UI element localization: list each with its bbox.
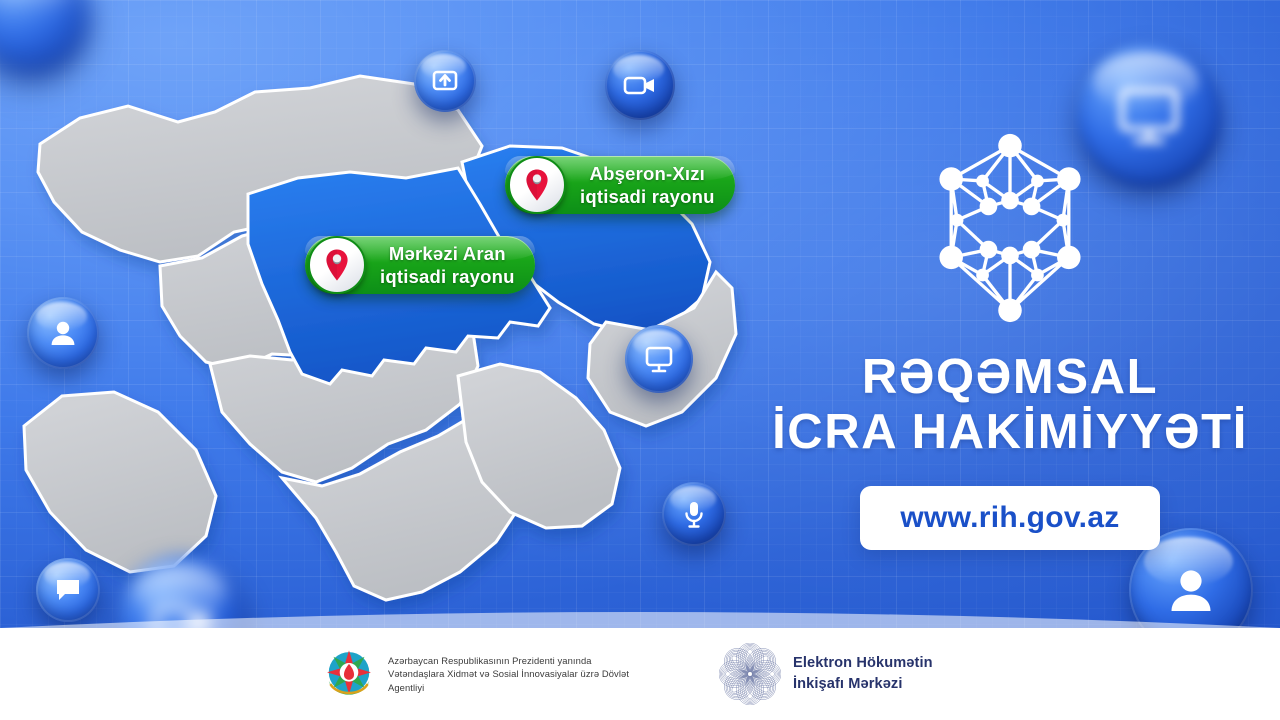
page-title: RƏQƏMSAL İCRA HAKİMİYYƏTİ (772, 350, 1248, 460)
asan-logo-text: Azərbaycan Respublikasının Prezidenti ya… (388, 654, 633, 694)
ehdm-logo-text: Elektron Hökumətin İnkişafı Mərkəzi (793, 653, 933, 695)
branding-column: RƏQƏMSAL İCRA HAKİMİYYƏTİ www.rih.gov.az (740, 100, 1280, 580)
map-region-nakhchivan (24, 392, 216, 572)
monitor-icon[interactable] (625, 325, 693, 393)
title-line-1: RƏQƏMSAL (862, 350, 1158, 404)
region-badge-text: Abşeron-Xızı iqtisadi rayonu (580, 162, 715, 208)
region-badge-text: Mərkəzi Aran iqtisadi rayonu (380, 242, 515, 288)
website-url-button[interactable]: www.rih.gov.az (860, 486, 1159, 550)
chat-bubble-icon[interactable] (36, 558, 100, 622)
ehdm-line-2: İnkişafı Mərkəzi (793, 674, 933, 695)
region-badge-absheron-xizi[interactable]: Abşeron-Xızı iqtisadi rayonu (505, 156, 735, 214)
website-url-text: www.rih.gov.az (900, 501, 1119, 534)
screen-upload-icon[interactable] (414, 50, 476, 112)
ehdm-line-1: Elektron Hökumətin (793, 653, 933, 674)
region-badge-line2: iqtisadi rayonu (580, 185, 715, 208)
region-badge-line2: iqtisadi rayonu (380, 265, 515, 288)
asan-logo-block[interactable]: Azərbaycan Respublikasının Prezidenti ya… (322, 647, 633, 701)
guilloche-star-icon (719, 643, 781, 705)
hexagon-network-icon (912, 130, 1108, 326)
user-icon[interactable] (27, 297, 99, 369)
region-badge-line1: Abşeron-Xızı (590, 163, 705, 184)
region-badge-line1: Mərkəzi Aran (389, 243, 506, 264)
azerbaijan-state-emblem-icon (322, 647, 376, 701)
region-badge-merkezi-aran[interactable]: Mərkəzi Aran iqtisadi rayonu (305, 236, 535, 294)
footer-bar: Azərbaycan Respublikasının Prezidenti ya… (0, 628, 1280, 720)
map-pin-icon (508, 156, 566, 214)
map-body (24, 76, 736, 600)
microphone-icon[interactable] (662, 482, 726, 546)
banner-stage: Abşeron-Xızı iqtisadi rayonu Mərkəzi Ara… (0, 0, 1280, 720)
map-pin-icon (308, 236, 366, 294)
ehdm-logo-block[interactable]: Elektron Hökumətin İnkişafı Mərkəzi (719, 643, 933, 705)
title-line-2: İCRA HAKİMİYYƏTİ (772, 405, 1248, 460)
video-camera-icon[interactable] (605, 50, 675, 120)
